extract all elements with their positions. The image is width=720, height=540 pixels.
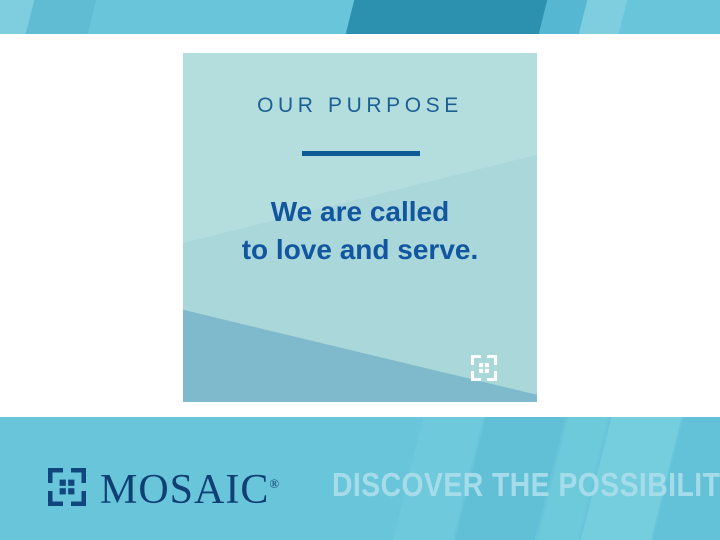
- mosaic-brand-mark-icon: [48, 468, 86, 506]
- registered-trademark-symbol: ®: [269, 476, 279, 491]
- purpose-card: OUR PURPOSE We are called to love and se…: [183, 53, 537, 402]
- purpose-quote: We are called to love and serve.: [183, 193, 537, 269]
- quote-line-2: to love and serve.: [183, 231, 537, 269]
- slide-canvas: OUR PURPOSE We are called to love and se…: [0, 0, 720, 540]
- brand-tagline: DISCOVER THE POSSIBILITIES: [332, 468, 720, 501]
- mosaic-logo-mark-icon: [471, 355, 497, 381]
- wordmark-text: MOSAIC: [100, 467, 269, 513]
- banner-stripe-mid-left: [25, 0, 97, 34]
- quote-line-1: We are called: [183, 193, 537, 231]
- banner-stripe-dark: [345, 0, 565, 34]
- brand-wordmark: MOSAIC®: [100, 463, 279, 511]
- banner-stripe-light-right: [578, 0, 628, 34]
- eyebrow-label: OUR PURPOSE: [183, 94, 537, 118]
- divider-rule: [302, 151, 420, 156]
- top-banner: [0, 0, 720, 34]
- brand-logo-lockup: MOSAIC®: [48, 463, 279, 511]
- card-content: OUR PURPOSE We are called to love and se…: [183, 53, 537, 402]
